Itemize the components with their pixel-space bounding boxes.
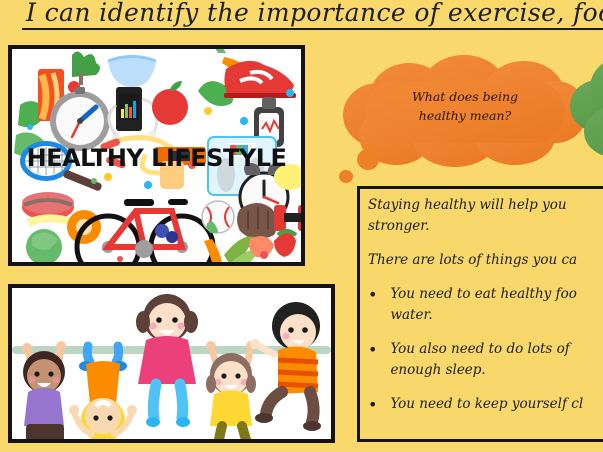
page-title: I can identify the importance of exercis… [26, 0, 603, 28]
kids-graphics [12, 288, 331, 439]
spacer [368, 381, 603, 394]
kid-pink [136, 294, 198, 427]
slide-canvas: I can identify the importance of exercis… [0, 0, 603, 452]
info-paragraph-line: There are lots of things you ca [368, 250, 603, 271]
bullet-line: You need to keep yourself cl [390, 394, 583, 415]
bubble-text-line-2: healthy mean? [343, 106, 587, 125]
collage-caption: HEALTHY LIFESTYLE [27, 144, 287, 172]
spacer [368, 237, 603, 250]
info-paragraph-line: stronger. [368, 216, 603, 237]
spacer [368, 326, 603, 339]
bullet-line: water. [390, 305, 576, 326]
bullet-line: You also need to do lots of [390, 339, 569, 360]
bullet-line: enough sleep. [390, 360, 569, 381]
info-bullet-item: • You need to eat healthy foo water. [368, 284, 603, 326]
children-on-bars-image [8, 284, 335, 443]
kid-orange-upsidedown [69, 346, 137, 439]
question-bubble-orange: What does being healthy mean? [343, 55, 587, 165]
spacer [368, 271, 603, 284]
title-underline [22, 28, 603, 30]
info-paragraph-line: Staying healthy will help you [368, 195, 603, 216]
kids-canvas [12, 288, 331, 439]
bubble-tail-small [339, 170, 353, 183]
bullet-line: You need to eat healthy foo [390, 284, 576, 305]
kid-striped [250, 302, 321, 431]
kid-purple [12, 341, 78, 439]
information-text-box: Staying healthy will help you stronger. … [357, 186, 603, 442]
bullet-marker: • [368, 339, 377, 360]
info-bullet-item: • You need to keep yourself cl [368, 394, 603, 415]
bubble-tail-large [357, 149, 379, 170]
bullet-marker: • [368, 394, 377, 415]
info-bullet-item: • You also need to do lots of enough sle… [368, 339, 603, 381]
healthy-lifestyle-image: HEALTHY LIFESTYLE [8, 45, 305, 266]
bubble-text-line-1: What does being [343, 87, 587, 106]
kid-yellow [206, 341, 258, 439]
bullet-marker: • [368, 284, 377, 305]
collage-canvas: HEALTHY LIFESTYLE [12, 49, 301, 262]
